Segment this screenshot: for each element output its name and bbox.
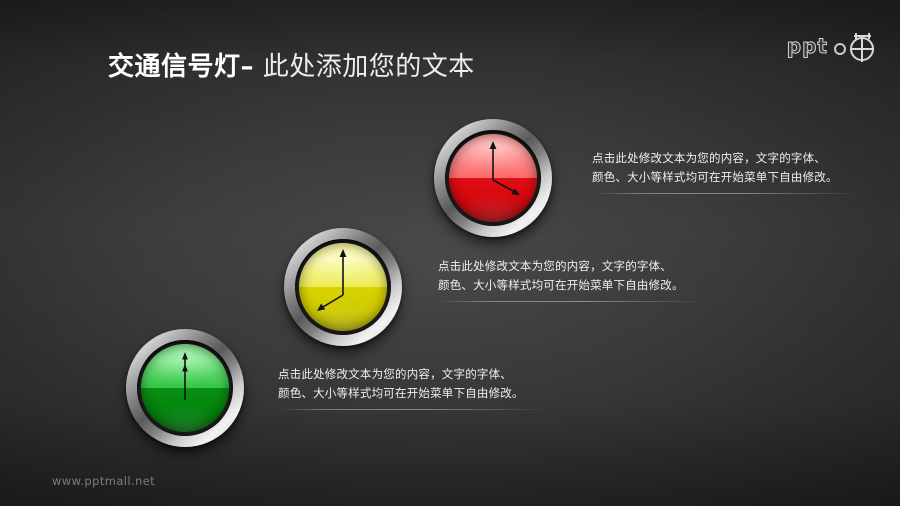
text-underline-rule: [592, 193, 860, 194]
text-line-2: 颜色、大小等样式均可在开始菜单下自由修改。: [592, 168, 860, 187]
circle-crosshair-icon: [832, 30, 878, 62]
text-underline-rule: [278, 409, 546, 410]
lens-bottom-half-green: [141, 388, 229, 432]
text-line-1: 点击此处修改文本为您的内容，文字的字体、: [278, 365, 546, 384]
page-title-light: 此处添加您的文本: [263, 52, 475, 82]
page-title: 交通信号灯– 此处添加您的文本: [108, 46, 475, 83]
footer-url[interactable]: www.pptmall.net: [52, 474, 155, 488]
text-line-2: 颜色、大小等样式均可在开始菜单下自由修改。: [438, 276, 706, 295]
light-lens-yellow: [299, 243, 387, 331]
brand-logo: ppt: [787, 30, 878, 62]
logo-wordmark: ppt: [787, 34, 828, 58]
light-lens-green: [141, 344, 229, 432]
light-lens-red: [449, 134, 537, 222]
text-line-1: 点击此处修改文本为您的内容，文字的字体、: [438, 257, 706, 276]
text-block-green[interactable]: 点击此处修改文本为您的内容，文字的字体、 颜色、大小等样式均可在开始菜单下自由修…: [278, 365, 546, 410]
lens-top-half-red: [449, 134, 537, 178]
text-block-red[interactable]: 点击此处修改文本为您的内容，文字的字体、 颜色、大小等样式均可在开始菜单下自由修…: [592, 149, 860, 194]
text-line-1: 点击此处修改文本为您的内容，文字的字体、: [592, 149, 860, 168]
slide-canvas: 交通信号灯– 此处添加您的文本 ppt: [0, 0, 900, 506]
text-block-yellow[interactable]: 点击此处修改文本为您的内容，文字的字体、 颜色、大小等样式均可在开始菜单下自由修…: [438, 257, 706, 302]
lens-top-half-green: [141, 344, 229, 388]
lens-bottom-half-red: [449, 178, 537, 222]
page-title-strong: 交通信号灯: [108, 52, 241, 82]
text-underline-rule: [438, 301, 706, 302]
page-title-separator: –: [241, 52, 255, 82]
text-line-2: 颜色、大小等样式均可在开始菜单下自由修改。: [278, 384, 546, 403]
traffic-light-red[interactable]: [434, 119, 552, 237]
lens-top-half-yellow: [299, 243, 387, 287]
traffic-light-yellow[interactable]: [284, 228, 402, 346]
lens-bottom-half-yellow: [299, 287, 387, 331]
traffic-light-green[interactable]: [126, 329, 244, 447]
